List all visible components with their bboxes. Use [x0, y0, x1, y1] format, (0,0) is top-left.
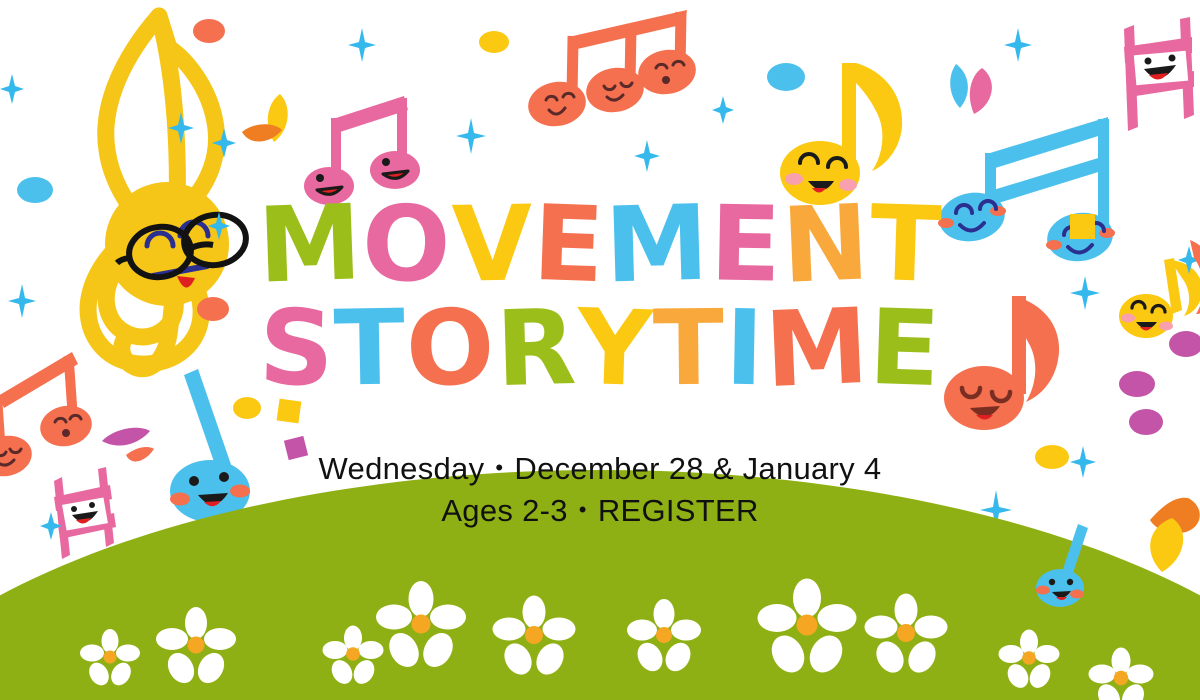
- title-letter-s: S: [257, 299, 335, 399]
- title-letter-e1: E: [532, 195, 607, 295]
- event-weekday: Wednesday: [319, 451, 485, 486]
- sparkle-icon-3: [0, 74, 24, 104]
- sparkle-icon-10: [1004, 28, 1032, 62]
- title-line-storytime: STORYTIME: [0, 300, 1200, 398]
- separator-dot-1: •: [495, 453, 503, 482]
- sparkle-icon-1: [348, 28, 376, 62]
- title-letter-e3: E: [868, 299, 943, 399]
- title-letter-m3: M: [763, 298, 872, 400]
- confetti-dot-magenta-2: [1128, 408, 1164, 436]
- event-dates: December 28 & January 4: [514, 451, 881, 486]
- poster-canvas: MOVEMENT STORYTIME Wednesday•December 28…: [0, 0, 1200, 700]
- title-letter-r: R: [494, 299, 578, 399]
- coral-triple-beam-notes-icon: [515, 2, 715, 127]
- daisy-10: [1090, 648, 1152, 700]
- title-letter-o1: O: [361, 195, 453, 295]
- confetti-dot-coral-1: [192, 18, 226, 44]
- confetti-dot-yellow-1: [478, 30, 510, 54]
- sparkle-icon-16: [330, 568, 364, 610]
- separator-dot-2: •: [579, 495, 587, 524]
- title-letter-t2: T: [334, 299, 408, 398]
- title-letter-m1: M: [256, 194, 364, 295]
- title-letter-y: Y: [575, 298, 655, 398]
- title-letter-m2: M: [604, 195, 711, 296]
- daisy-2: [158, 608, 234, 684]
- daisy-4: [378, 582, 464, 668]
- pink-natural-sign-face-icon: [1108, 15, 1200, 140]
- title-letter-n: N: [780, 194, 872, 295]
- sparkle-icon-2: [168, 112, 194, 144]
- title-block: MOVEMENT STORYTIME: [0, 196, 1200, 398]
- title-line-movement: MOVEMENT: [0, 196, 1200, 294]
- daisy-6: [628, 600, 700, 672]
- title-letter-e2: E: [709, 195, 783, 294]
- event-date-line: Wednesday•December 28 & January 4: [0, 448, 1200, 490]
- daisy-3: [324, 626, 382, 684]
- sparkle-icon-14: [144, 532, 170, 564]
- event-details: Wednesday•December 28 & January 4 Ages 2…: [0, 448, 1200, 531]
- sparkle-icon-4: [212, 128, 236, 158]
- event-ages-line: Ages 2-3•REGISTER: [0, 490, 1200, 532]
- daisy-5: [494, 596, 574, 676]
- daisy-7: [760, 580, 854, 674]
- title-letter-t1: T: [869, 195, 944, 295]
- blue-small-note-icon: [1030, 520, 1116, 610]
- sparkle-icon-8: [634, 140, 660, 172]
- title-letter-t3: T: [653, 299, 726, 397]
- confetti-dot-blue-2: [766, 62, 806, 92]
- title-letter-o2: O: [405, 298, 498, 399]
- daisy-9: [1000, 630, 1058, 688]
- daisy-1: [82, 630, 138, 686]
- register-link[interactable]: REGISTER: [598, 493, 759, 528]
- petal-decor-top-left: [236, 92, 296, 154]
- event-ages: Ages 2-3: [441, 493, 567, 528]
- sparkle-icon-7: [456, 118, 486, 154]
- daisy-8: [866, 594, 946, 674]
- teardrop-pair-decor: [944, 60, 1016, 122]
- title-letter-v: V: [451, 195, 534, 294]
- sparkle-icon-9: [712, 96, 734, 124]
- title-letter-i: I: [724, 299, 765, 397]
